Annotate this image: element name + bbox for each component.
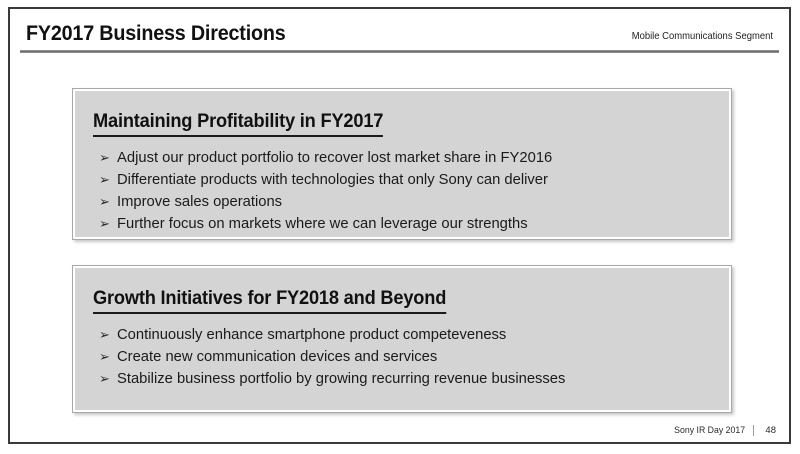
list-item: ➢ Create new communication devices and s… [87,346,717,367]
panel-heading: Growth Initiatives for FY2018 and Beyond [93,288,446,314]
page-title: FY2017 Business Directions [26,22,286,46]
panel-heading: Maintaining Profitability in FY2017 [93,111,383,137]
arrow-bullet-icon: ➢ [87,191,117,212]
list-item: ➢ Stabilize business portfolio by growin… [87,368,717,389]
bullet-list: ➢ Adjust our product portfolio to recove… [87,147,717,234]
list-item-label: Improve sales operations [117,191,708,212]
list-item-label: Create new communication devices and ser… [117,346,708,367]
page-number: 48 [762,425,776,436]
list-item: ➢ Differentiate products with technologi… [87,169,717,190]
slide-header: FY2017 Business Directions Mobile Commun… [10,9,789,57]
bullet-list: ➢ Continuously enhance smartphone produc… [87,324,717,389]
arrow-bullet-icon: ➢ [87,346,117,367]
slide-frame: FY2017 Business Directions Mobile Commun… [8,7,791,444]
segment-label: Mobile Communications Segment [632,30,773,42]
footer-source-label: Sony IR Day 2017 [674,425,745,436]
header-divider-rule [20,50,779,53]
arrow-bullet-icon: ➢ [87,324,117,345]
list-item-label: Stabilize business portfolio by growing … [117,368,708,389]
arrow-bullet-icon: ➢ [87,368,117,389]
list-item-label: Continuously enhance smartphone product … [117,324,708,345]
list-item: ➢ Adjust our product portfolio to recove… [87,147,717,168]
list-item-label: Differentiate products with technologies… [117,169,708,190]
list-item: ➢ Further focus on markets where we can … [87,213,717,234]
arrow-bullet-icon: ➢ [87,213,117,234]
footer-divider [753,425,754,436]
list-item: ➢ Improve sales operations [87,191,717,212]
list-item-label: Further focus on markets where we can le… [117,213,708,234]
list-item: ➢ Continuously enhance smartphone produc… [87,324,717,345]
slide-footer: Sony IR Day 2017 48 [668,425,776,436]
content-panel-maintaining-profitability: Maintaining Profitability in FY2017 ➢ Ad… [72,88,732,240]
list-item-label: Adjust our product portfolio to recover … [117,147,708,168]
arrow-bullet-icon: ➢ [87,147,117,168]
content-panel-growth-initiatives: Growth Initiatives for FY2018 and Beyond… [72,265,732,413]
arrow-bullet-icon: ➢ [87,169,117,190]
